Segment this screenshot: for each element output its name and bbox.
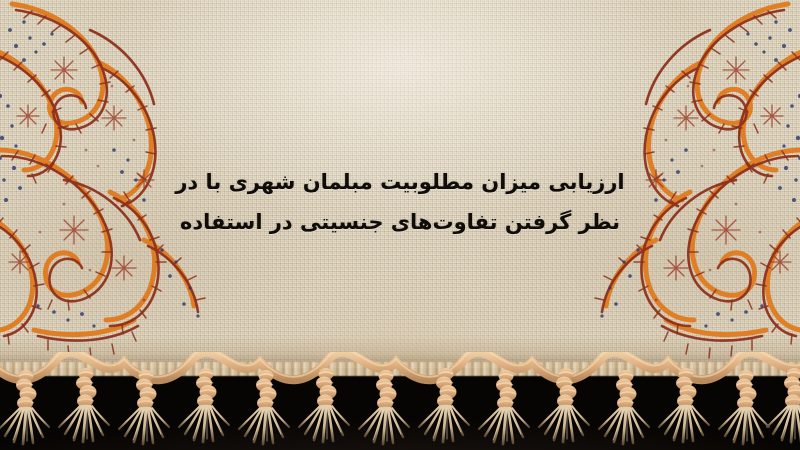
title-block: ارزیابی میزان مطلوبیت مبلمان شهری با در …	[170, 162, 630, 242]
title-line-1: ارزیابی میزان مطلوبیت مبلمان شهری با در	[170, 162, 630, 202]
title-line-2: نظر گرفتن تفاوت‌های جنسیتی در استفاده	[170, 202, 630, 242]
textile-title-card: ارزیابی میزان مطلوبیت مبلمان شهری با در …	[0, 0, 800, 450]
knotted-rope-tassel-fringe	[0, 352, 800, 450]
